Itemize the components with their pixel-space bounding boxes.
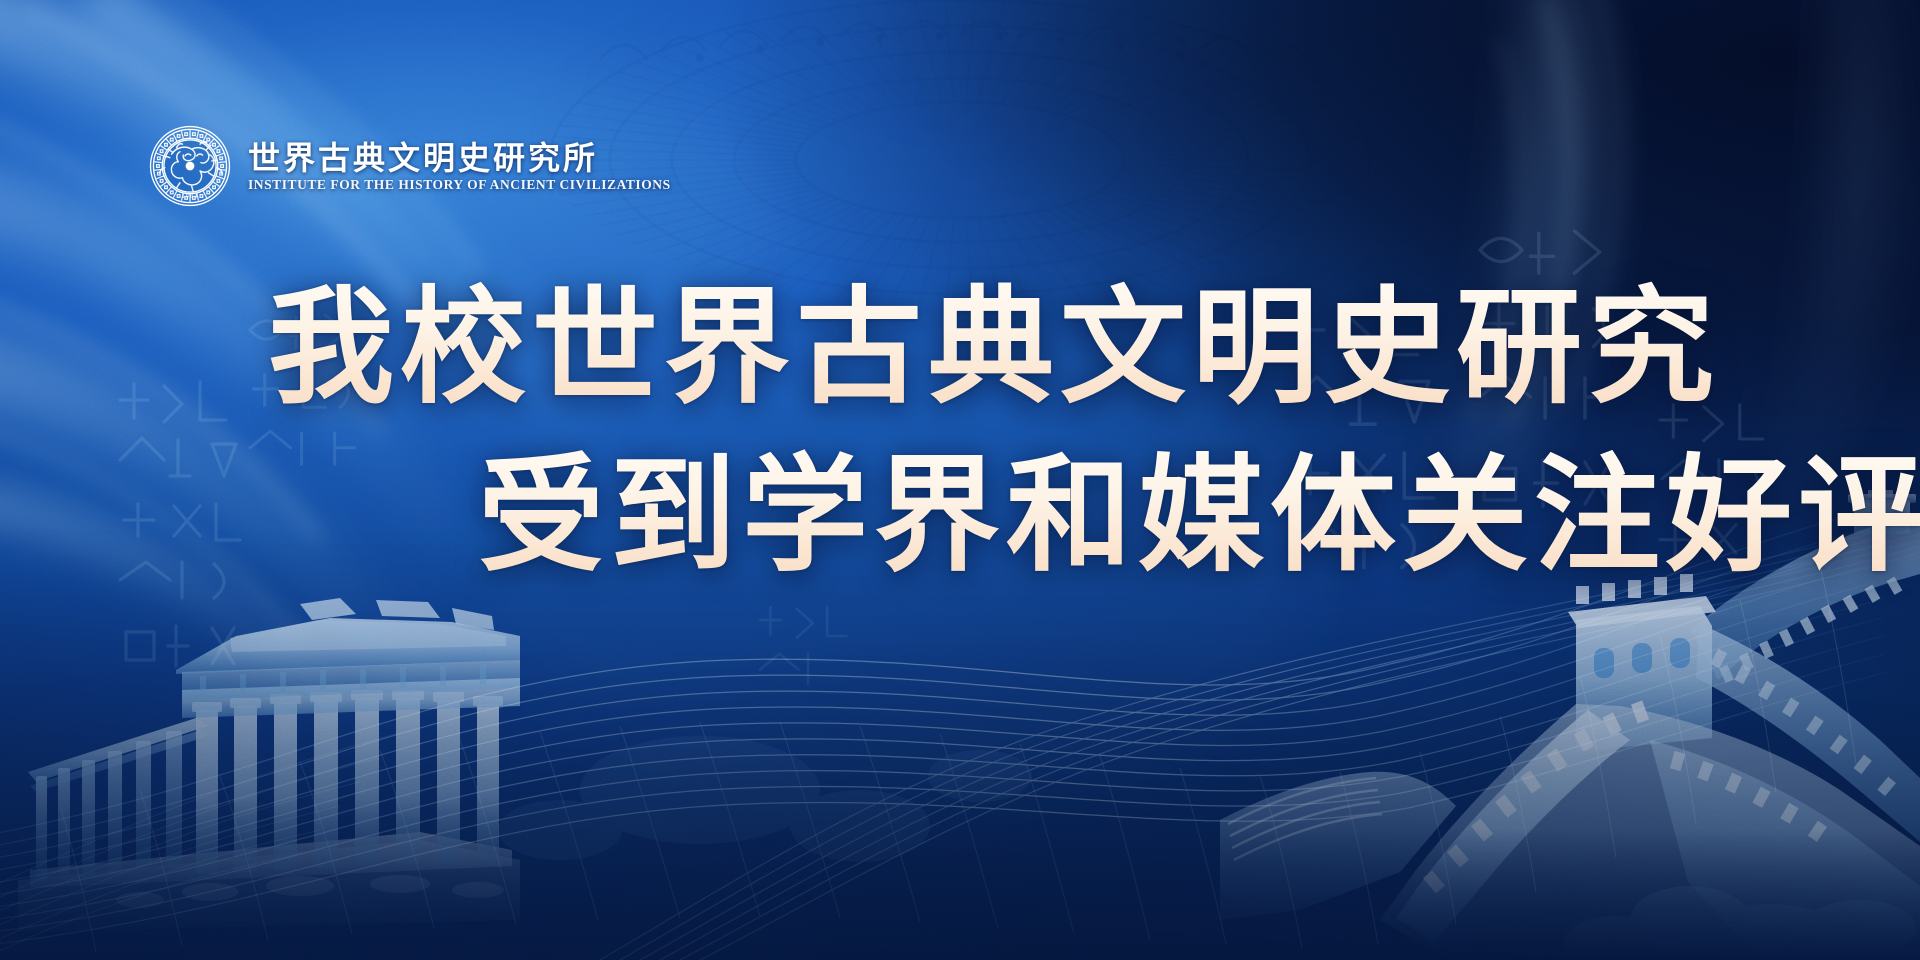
headline-block: 我校世界古典文明史研究 受到学界和媒体关注好评 xyxy=(0,278,1920,590)
parthenon-illustration xyxy=(0,540,560,960)
banner-root: 1984 世界古典文明史研究所 INSTITUTE FOR THE HISTOR… xyxy=(0,0,1920,960)
logo-text-block: 世界古典文明史研究所 INSTITUTE FOR THE HISTORY OF … xyxy=(248,139,671,192)
institute-name-en: INSTITUTE FOR THE HISTORY OF ANCIENT CIV… xyxy=(248,178,671,193)
seal-year: 1984 xyxy=(182,194,198,200)
institute-logo[interactable]: 1984 世界古典文明史研究所 INSTITUTE FOR THE HISTOR… xyxy=(148,124,671,208)
dragon-seal-icon: 1984 xyxy=(148,124,232,208)
institute-name-cn: 世界古典文明史研究所 xyxy=(248,141,671,176)
headline-line-1: 我校世界古典文明史研究 xyxy=(268,278,1920,422)
headline-line-2: 受到学界和媒体关注好评 xyxy=(478,446,1920,590)
